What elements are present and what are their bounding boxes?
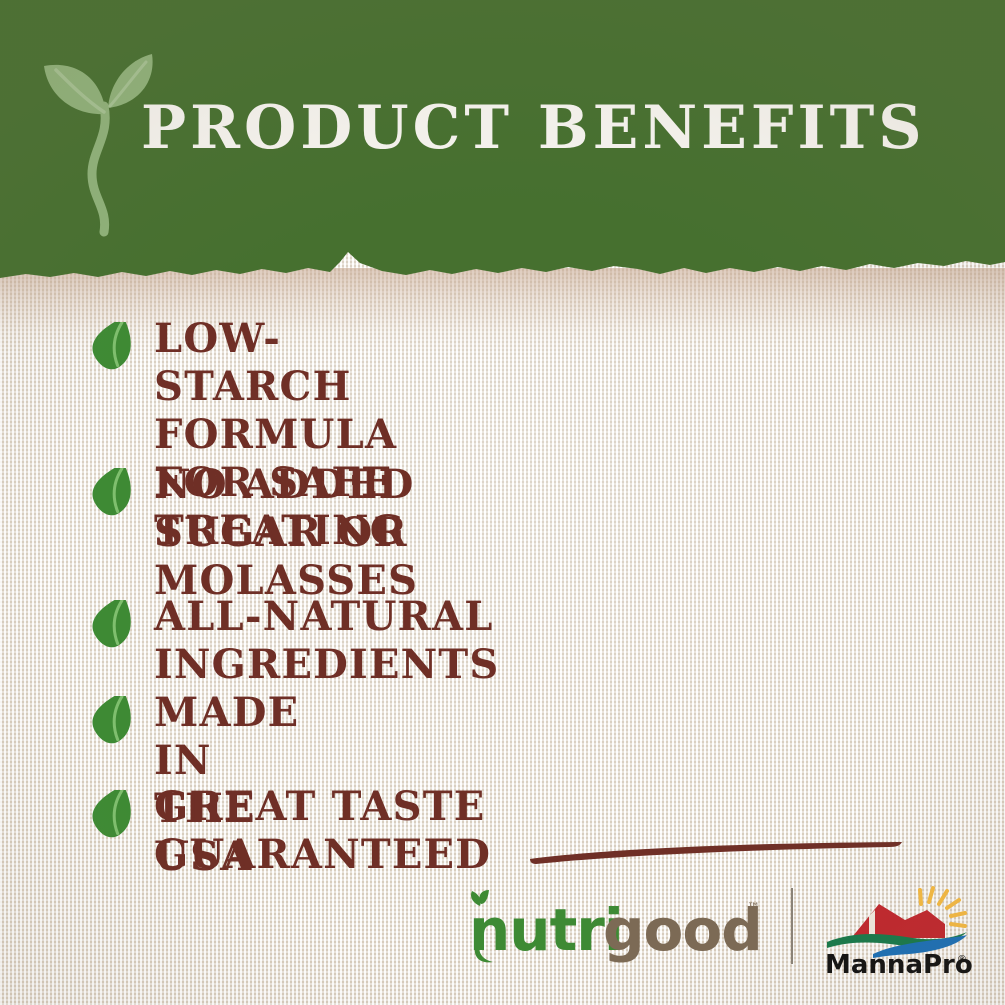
vertical-divider [791, 888, 793, 964]
mannapro-wordmark: MannaPro [825, 950, 973, 976]
leaf-bullet-icon [88, 790, 140, 838]
brushstroke-underline [528, 838, 906, 866]
leaf-bullet-icon [88, 322, 140, 370]
svg-text:nutri: nutri [469, 896, 623, 964]
mannapro-logo: MannaPro ® [817, 880, 975, 976]
trademark-symbol: ™ [747, 901, 760, 916]
list-item-label: ALL-NATURAL INGREDIENTS [154, 593, 499, 689]
leaf-bullet-icon [88, 600, 140, 648]
registered-symbol: ® [957, 954, 967, 965]
list-item-label: GREAT TASTE GUARANTEED [154, 783, 491, 879]
footer-brand-logos: nutri good ™ [455, 880, 975, 980]
svg-text:good: good [603, 896, 762, 964]
list-item-label: NO ADDED SUGAR OR MOLASSES [154, 461, 418, 605]
product-benefits-poster: PRODUCT BENEFITS LOW-STARCH FORMULA FOR … [0, 0, 1005, 1005]
barn-icon [853, 904, 945, 938]
leaf-bullet-icon [88, 696, 140, 744]
leaf-bullet-icon [88, 468, 140, 516]
nutrigood-logo: nutri good ™ [463, 888, 763, 966]
